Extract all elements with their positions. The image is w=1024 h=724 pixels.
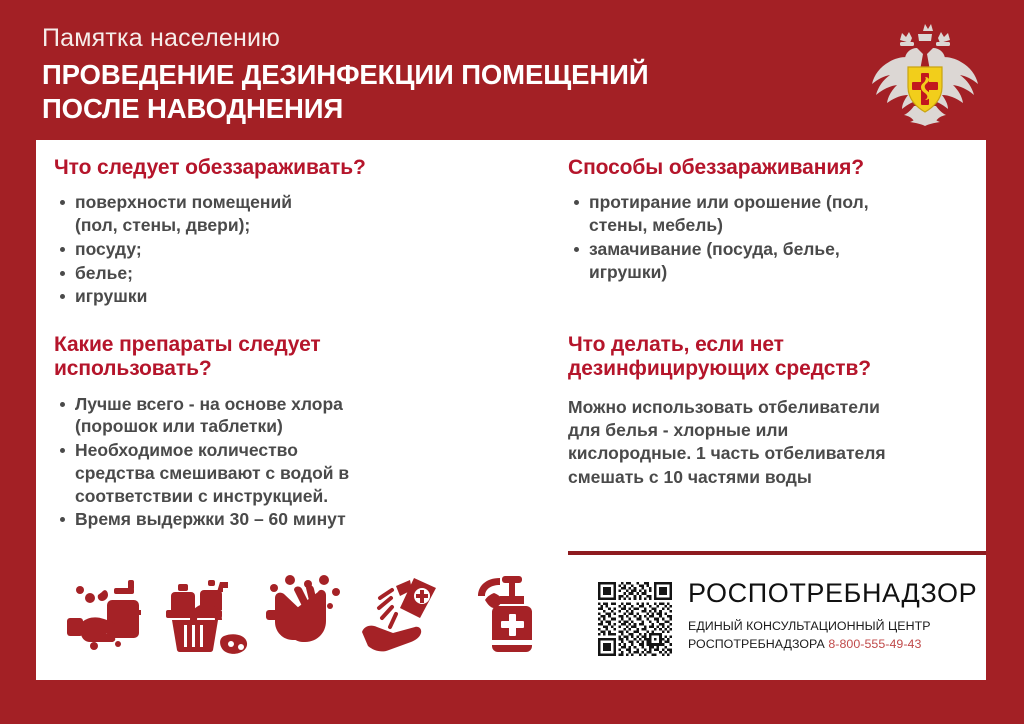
hand-wash-soap-dispenser-icon [64,570,152,658]
hygiene-icon-row [64,564,544,664]
brand-subtitle-line2: РОСПОТРЕБНАДЗОРА 8-800-555-49-43 [688,636,988,654]
list-item: посуду; [54,238,524,261]
section-what-to-disinfect: Что следует обеззараживать? поверхности … [54,156,524,309]
poster-root: Памятка населению ПРОВЕДЕНИЕ ДЕЗИНФЕКЦИИ… [0,0,1024,724]
spray-bottle-on-hand-icon [358,570,446,658]
section-title: Что следует обеззараживать? [54,156,524,180]
antiseptic-sanitizer-bottle-icon [456,570,544,658]
page-title: ПРОВЕДЕНИЕ ДЕЗИНФЕКЦИИ ПОМЕЩЕНИЙ ПОСЛЕ Н… [42,58,649,125]
qr-code[interactable] [598,582,672,656]
brand-subtitle-line2-text: РОСПОТРЕБНАДЗОРА [688,637,825,651]
section-title: Что делать, если нет дезинфицирующих сре… [568,333,978,382]
list-item: игрушки [54,285,524,308]
section-no-disinfectant-available: Что делать, если нет дезинфицирующих сре… [568,333,978,489]
content-card: Что следует обеззараживать? поверхности … [36,140,986,680]
poster-header: Памятка населению ПРОВЕДЕНИЕ ДЕЗИНФЕКЦИИ… [0,0,1024,140]
section-disinfection-methods: Способы обеззараживания? протирание или … [568,156,968,284]
section-title: Какие препараты следует использовать? [54,333,474,382]
bucket-with-cleaning-bottles-sponge-icon [162,570,250,658]
list-item: замачивание (посуда, белье, игрушки) [568,238,968,284]
brand-text-block: РОСПОТРЕБНАДЗОР ЕДИНЫЙ КОНСУЛЬТАЦИОННЫЙ … [688,580,988,653]
footer-brand: РОСПОТРЕБНАДЗОР ЕДИНЫЙ КОНСУЛЬТАЦИОННЫЙ … [598,580,988,662]
washing-hands-with-bubbles-icon [260,570,348,658]
list-item: Время выдержки 30 – 60 минут [54,508,474,531]
footer-divider [568,551,986,555]
brand-name: РОСПОТРЕБНАДЗОР [688,580,988,607]
list-item: белье; [54,262,524,285]
bullet-list: протирание или орошение (пол, стены, меб… [568,191,968,283]
brand-subtitle-line1: ЕДИНЫЙ КОНСУЛЬТАЦИОННЫЙ ЦЕНТР [688,618,988,636]
list-item: протирание или орошение (пол, стены, меб… [568,191,968,237]
bullet-list: Лучше всего - на основе хлора (порошок и… [54,393,474,532]
list-item: Необходимое количество средства смешиваю… [54,439,474,507]
list-item: поверхности помещений (пол, стены, двери… [54,191,524,237]
header-kicker: Памятка населению [42,24,280,53]
hotline-phone-number[interactable]: 8-800-555-49-43 [828,637,921,651]
section-title: Способы обеззараживания? [568,156,968,180]
brand-subtitle: ЕДИНЫЙ КОНСУЛЬТАЦИОННЫЙ ЦЕНТР РОСПОТРЕБН… [688,618,988,653]
section-which-agents-to-use: Какие препараты следует использовать? Лу… [54,333,474,532]
list-item: Лучше всего - на основе хлора (порошок и… [54,393,474,439]
bullet-list: поверхности помещений (пол, стены, двери… [54,191,524,308]
rospotrebnadzor-double-headed-eagle-emblem [868,22,982,126]
section-body: Можно использовать отбеливатели для бель… [568,396,978,489]
